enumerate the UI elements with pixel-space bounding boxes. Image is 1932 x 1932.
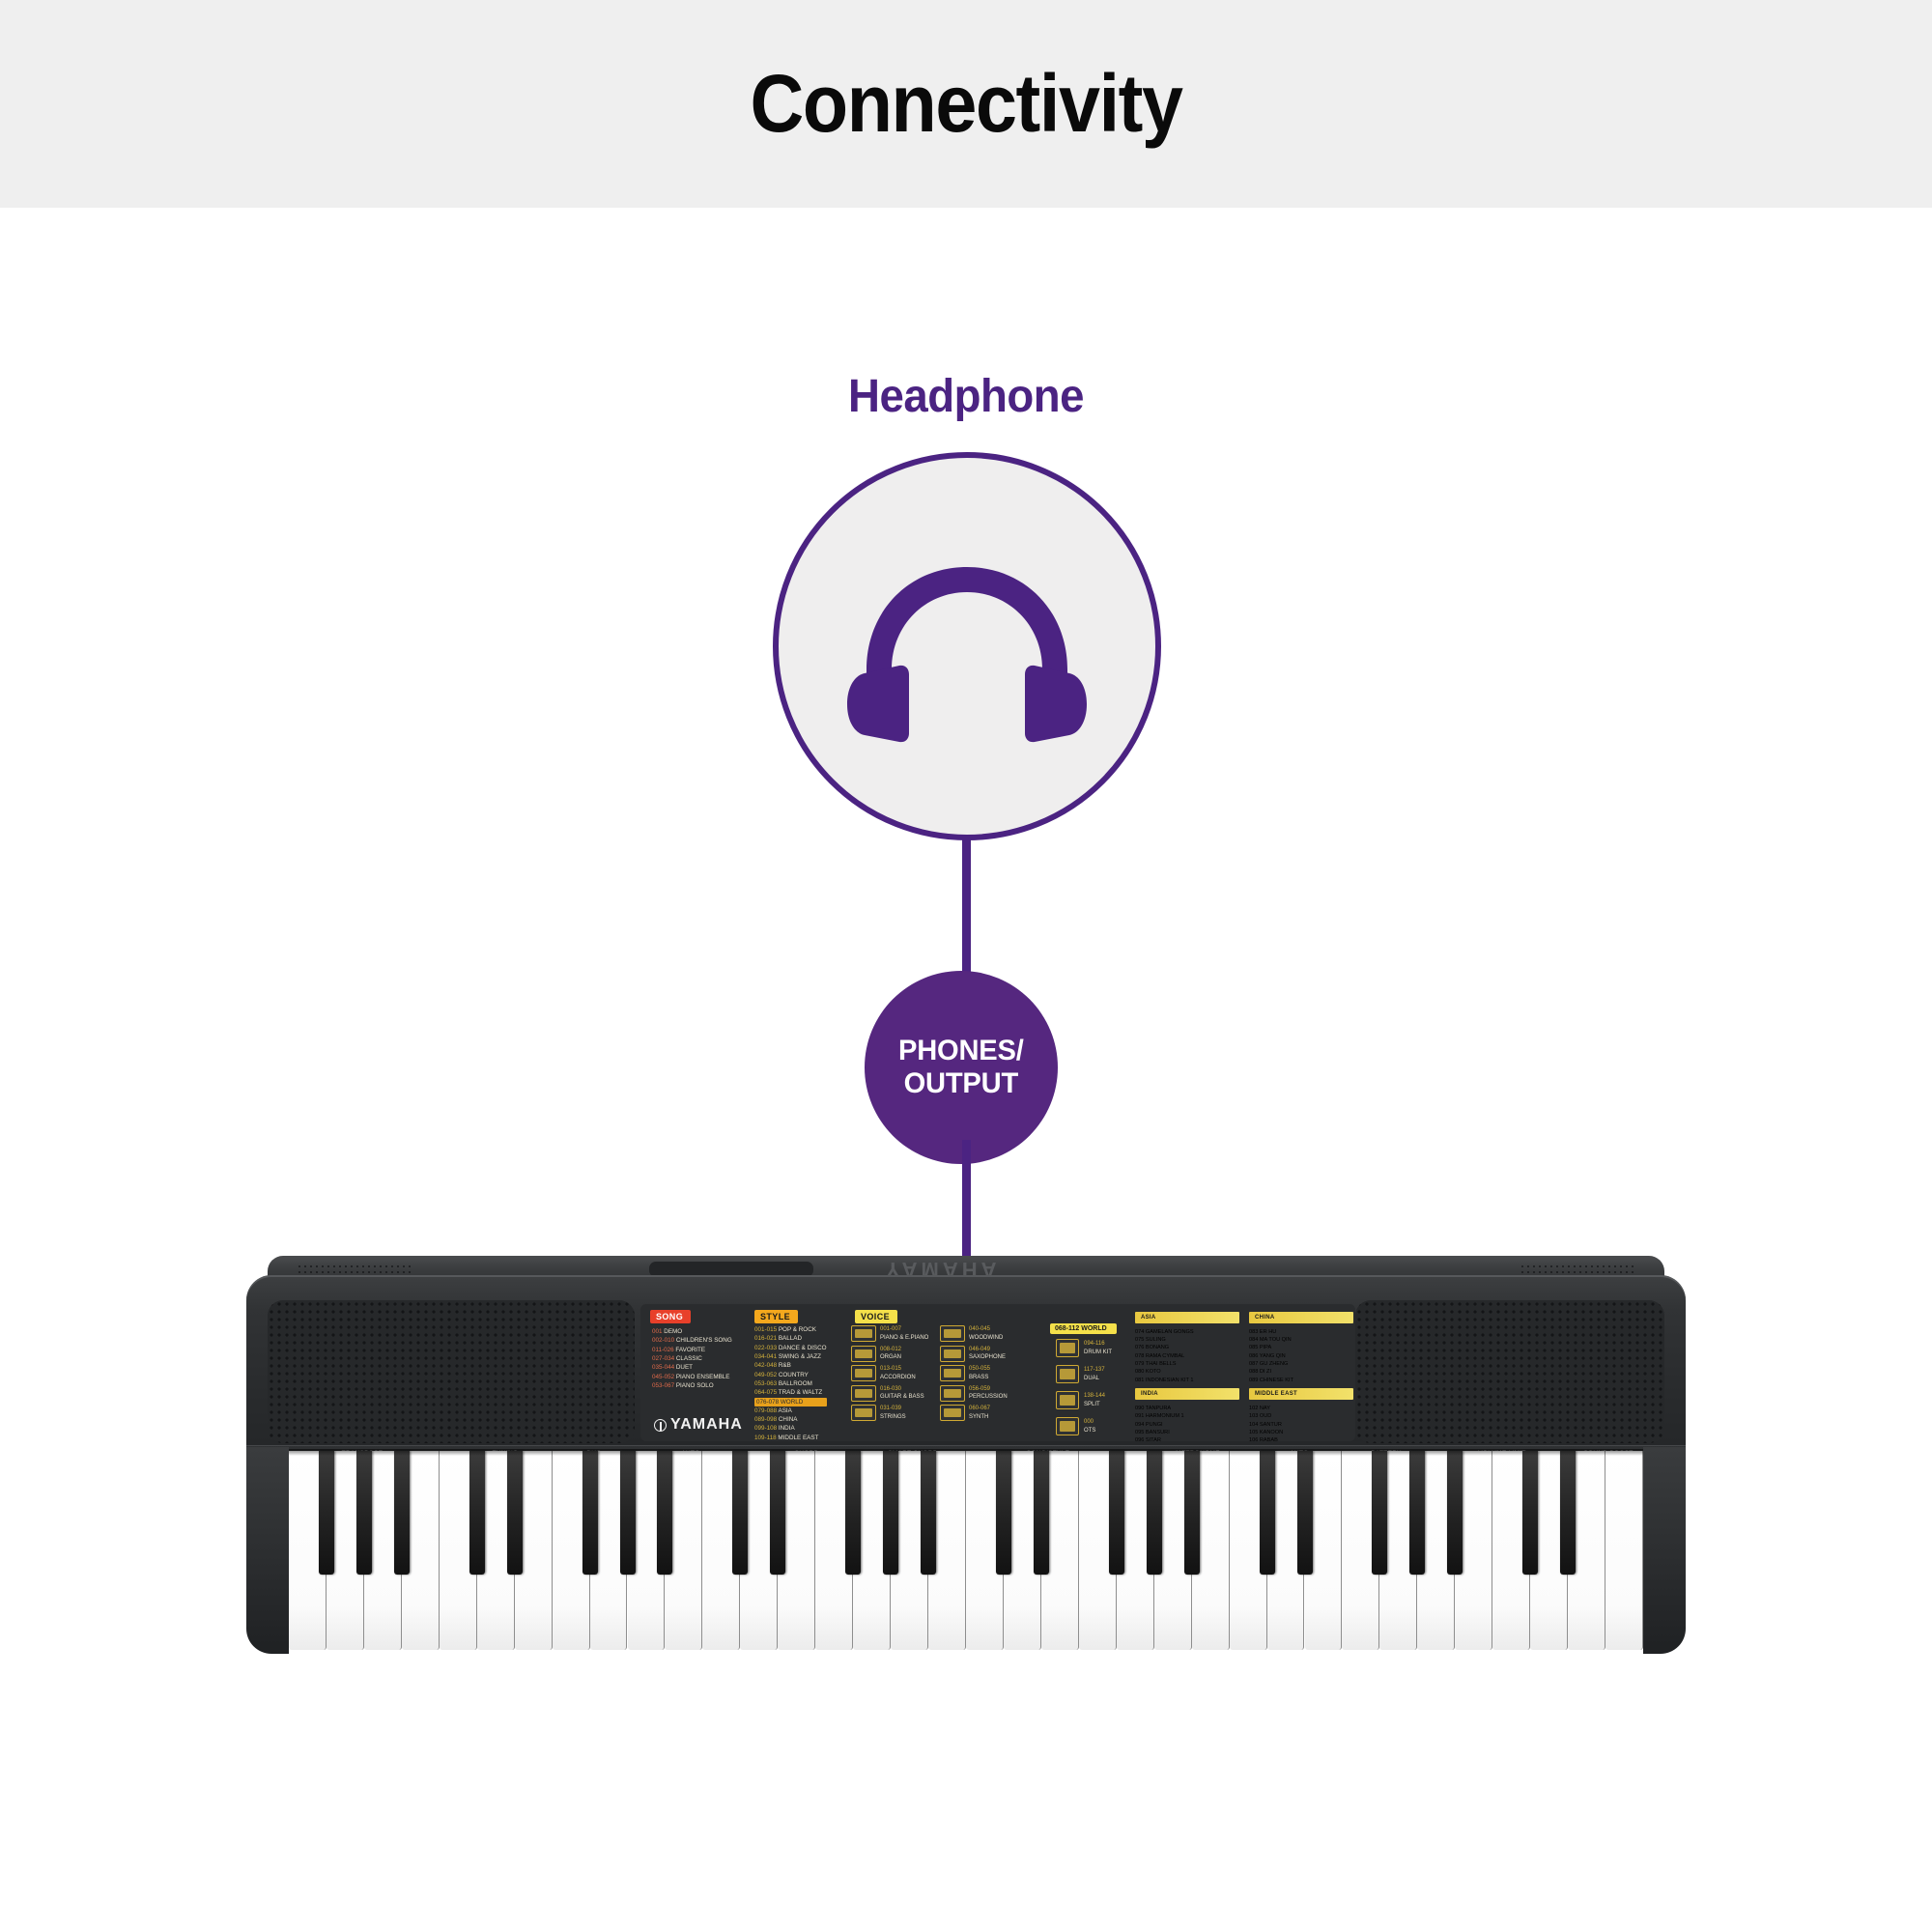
control-panel: SONG STYLE VOICE 001 DEMO002-010 CHILDRE…	[640, 1304, 1355, 1441]
black-key[interactable]	[996, 1451, 1011, 1575]
region-item: 096 SITAR	[1135, 1436, 1239, 1441]
region-title: INDIA	[1135, 1388, 1239, 1400]
black-key[interactable]	[845, 1451, 861, 1575]
guitar-icon	[851, 1385, 876, 1402]
voice-group-label: 001-007PIANO & E.PIANO	[880, 1325, 928, 1341]
black-key[interactable]	[732, 1451, 748, 1575]
list-item: 002-010 CHILDREN'S SONG	[652, 1336, 732, 1345]
header-band: Connectivity	[0, 0, 1932, 208]
black-key[interactable]	[657, 1451, 672, 1575]
list-item: 045-052 PIANO ENSEMBLE	[652, 1373, 732, 1381]
kit-group-row: 000OTS	[1056, 1417, 1112, 1435]
list-item: 027-034 CLASSIC	[652, 1354, 732, 1363]
region-item: 087 GU ZHENG	[1249, 1360, 1353, 1368]
region-title: ASIA	[1135, 1312, 1239, 1323]
key-bed	[246, 1453, 1686, 1671]
yamaha-logo: YAMAHA	[654, 1416, 743, 1434]
organ-icon	[851, 1346, 876, 1362]
black-key[interactable]	[1560, 1451, 1576, 1575]
phones-output-badge[interactable]: PHONES/ OUTPUT	[865, 971, 1058, 1164]
percussion-icon	[940, 1385, 965, 1402]
voice-group-label: 046-049SAXOPHONE	[969, 1346, 1006, 1361]
voice-group-label: 040-045WOODWIND	[969, 1325, 1003, 1341]
yamaha-wordmark: YAMAHA	[670, 1416, 743, 1434]
region-title: CHINA	[1249, 1312, 1353, 1323]
dual-icon	[1056, 1365, 1079, 1383]
voice-group-label: 050-055BRASS	[969, 1365, 990, 1380]
kit-group-label: 094-116DRUM KIT	[1084, 1340, 1112, 1355]
list-item: 064-075 TRAD & WALTZ	[754, 1388, 827, 1397]
black-key[interactable]	[770, 1451, 785, 1575]
piano-keys[interactable]	[289, 1451, 1643, 1650]
yamaha-tuning-fork-icon	[654, 1419, 667, 1432]
list-item: 099-108 INDIA	[754, 1424, 827, 1433]
region-item: 075 SULING	[1135, 1336, 1239, 1344]
kit-group-label: 138-144SPLIT	[1084, 1392, 1105, 1407]
piano-icon	[851, 1325, 876, 1342]
region-bar-row: INDIAMIDDLE EAST	[1135, 1388, 1353, 1403]
region-item: 105 KANOON	[1249, 1429, 1353, 1436]
region-item: 080 KOTO	[1135, 1368, 1239, 1376]
voice-group-label: 060-067SYNTH	[969, 1405, 990, 1420]
list-item: 079-088 ASIA	[754, 1406, 827, 1415]
region-item: 106 RABAB	[1249, 1436, 1353, 1441]
black-key[interactable]	[507, 1451, 523, 1575]
synth-icon	[940, 1405, 965, 1421]
black-key[interactable]	[469, 1451, 485, 1575]
style-list: 001-015 POP & ROCK016-021 BALLAD022-033 …	[754, 1325, 827, 1441]
keyboard-body: SONG STYLE VOICE 001 DEMO002-010 CHILDRE…	[246, 1275, 1686, 1468]
black-key[interactable]	[883, 1451, 898, 1575]
list-item: 034-041 SWING & JAZZ	[754, 1352, 827, 1361]
region-item: 074 GAMELAN GONGS	[1135, 1328, 1239, 1336]
sax-icon	[940, 1346, 965, 1362]
region-item: 089 CHINESE KIT	[1249, 1377, 1353, 1384]
connector-line-bottom	[962, 1140, 971, 1271]
voice-group-label: 013-015ACCORDION	[880, 1365, 916, 1380]
list-item: 053-067 PIANO SOLO	[652, 1381, 732, 1390]
region-item-list: 074 GAMELAN GONGS075 SULING076 BONANG078…	[1135, 1328, 1239, 1385]
region-item: 084 MA TOU QIN	[1249, 1336, 1353, 1344]
black-key[interactable]	[1522, 1451, 1538, 1575]
region-title: MIDDLE EAST	[1249, 1388, 1353, 1400]
region-items-row: 074 GAMELAN GONGS075 SULING076 BONANG078…	[1135, 1328, 1353, 1385]
region-item: 079 THAI BELLS	[1135, 1360, 1239, 1368]
list-item: 001-015 POP & ROCK	[754, 1325, 827, 1334]
black-key[interactable]	[1297, 1451, 1313, 1575]
white-key[interactable]	[1605, 1451, 1643, 1650]
list-item: 022-033 DANCE & DISCO	[754, 1344, 827, 1352]
kit-group-label: 117-137DUAL	[1084, 1366, 1105, 1381]
trumpet-icon	[940, 1365, 965, 1381]
region-item: 094 PUNGI	[1135, 1421, 1239, 1429]
headphone-icon	[841, 557, 1093, 751]
voice-group-label: 031-039STRINGS	[880, 1405, 906, 1420]
region-item: 091 HARMONIUM 1	[1135, 1412, 1239, 1420]
split-icon	[1056, 1391, 1079, 1409]
violin-icon	[851, 1405, 876, 1421]
speaker-grille-right	[1355, 1300, 1664, 1443]
voice-group-label: 016-030GUITAR & BASS	[880, 1385, 924, 1401]
voice-group-label: 008-012ORGAN	[880, 1346, 901, 1361]
region-item: 095 BANSURI	[1135, 1429, 1239, 1436]
list-item: 001 DEMO	[652, 1327, 732, 1336]
region-items-row: 090 TANPURA091 HARMONIUM 1094 PUNGI095 B…	[1135, 1405, 1353, 1441]
headphone-label: Headphone	[48, 370, 1884, 423]
region-item: 102 NAY	[1249, 1405, 1353, 1412]
kit-group-row: 117-137DUAL	[1056, 1365, 1112, 1383]
list-item: 109-118 MIDDLE EAST	[754, 1434, 827, 1441]
region-item: 085 PIPA	[1249, 1344, 1353, 1351]
black-key[interactable]	[1147, 1451, 1162, 1575]
list-item: 076-078 WORLD	[754, 1398, 827, 1406]
keybed-shadow	[289, 1449, 1643, 1456]
region-item-list: 102 NAY103 OUD104 SANTUR105 KANOON106 RA…	[1249, 1405, 1353, 1441]
connector-line-top	[962, 837, 971, 981]
region-bar-row: ASIACHINA	[1135, 1312, 1353, 1326]
black-key[interactable]	[1184, 1451, 1200, 1575]
badge-label: PHONES/ OUTPUT	[898, 1035, 1024, 1099]
region-item: 083 ER HU	[1249, 1328, 1353, 1336]
region-item-list: 083 ER HU084 MA TOU QIN085 PIPA086 YANG …	[1249, 1328, 1353, 1385]
list-item: 042-048 R&B	[754, 1361, 827, 1370]
region-item: 103 OUD	[1249, 1412, 1353, 1420]
keybed-side-left	[246, 1447, 289, 1654]
list-item: 053-063 BALLROOM	[754, 1379, 827, 1388]
black-key[interactable]	[319, 1451, 334, 1575]
kit-group-label: 000OTS	[1084, 1418, 1095, 1434]
song-list: 001 DEMO002-010 CHILDREN'S SONG011-026 F…	[652, 1327, 732, 1390]
ots-icon	[1056, 1417, 1079, 1435]
black-key[interactable]	[1260, 1451, 1275, 1575]
list-item: 011-026 FAVORITE	[652, 1346, 732, 1354]
flute-icon	[940, 1325, 965, 1342]
kit-group-list: 094-116DRUM KIT117-137DUAL138-144SPLIT00…	[1056, 1339, 1112, 1441]
world-regions: ASIACHINA074 GAMELAN GONGS075 SULING076 …	[1135, 1312, 1353, 1441]
list-item: 089-098 CHINA	[754, 1415, 827, 1424]
drumkit-icon	[1056, 1339, 1079, 1357]
list-item: 035-044 DUET	[652, 1363, 732, 1372]
black-key[interactable]	[1034, 1451, 1049, 1575]
black-key[interactable]	[394, 1451, 410, 1575]
kit-group-row: 094-116DRUM KIT	[1056, 1339, 1112, 1357]
region-item: 090 TANPURA	[1135, 1405, 1239, 1412]
black-key[interactable]	[1372, 1451, 1387, 1575]
list-item: 016-021 BALLAD	[754, 1334, 827, 1343]
black-key[interactable]	[582, 1451, 598, 1575]
region-item: 076 BONANG	[1135, 1344, 1239, 1351]
black-key[interactable]	[1409, 1451, 1425, 1575]
page-root: Connectivity Headphone PHONES/ OUTPUT YA…	[0, 0, 1932, 1932]
black-key[interactable]	[1447, 1451, 1463, 1575]
speaker-grille-left	[268, 1300, 635, 1443]
voice-group-label: 056-059PERCUSSION	[969, 1385, 1008, 1401]
kit-group-row: 138-144SPLIT	[1056, 1391, 1112, 1409]
chip-song: SONG	[650, 1310, 691, 1323]
region-item: 086 YANG QIN	[1249, 1352, 1353, 1360]
region-item: 078 RAMA CYMBAL	[1135, 1352, 1239, 1360]
chip-style: STYLE	[754, 1310, 798, 1323]
region-item: 081 INDONESIAN KIT 1	[1135, 1377, 1239, 1384]
keybed-side-right	[1643, 1447, 1686, 1654]
region-item: 088 DI ZI	[1249, 1368, 1353, 1376]
headphone-icon-circle	[773, 452, 1161, 840]
world-chip: 068-112 WORLD	[1050, 1323, 1117, 1334]
yamaha-keyboard: YAMAHA SONG STYLE VOICE 001 DEMO002-010 …	[246, 1256, 1686, 1671]
accordion-icon	[851, 1365, 876, 1381]
region-item-list: 090 TANPURA091 HARMONIUM 1094 PUNGI095 B…	[1135, 1405, 1239, 1441]
black-key[interactable]	[921, 1451, 936, 1575]
black-key[interactable]	[620, 1451, 636, 1575]
list-item: 049-052 COUNTRY	[754, 1371, 827, 1379]
page-title: Connectivity	[750, 57, 1181, 151]
chip-voice: VOICE	[855, 1310, 897, 1323]
black-key[interactable]	[356, 1451, 372, 1575]
black-key[interactable]	[1109, 1451, 1124, 1575]
region-item: 104 SANTUR	[1249, 1421, 1353, 1429]
